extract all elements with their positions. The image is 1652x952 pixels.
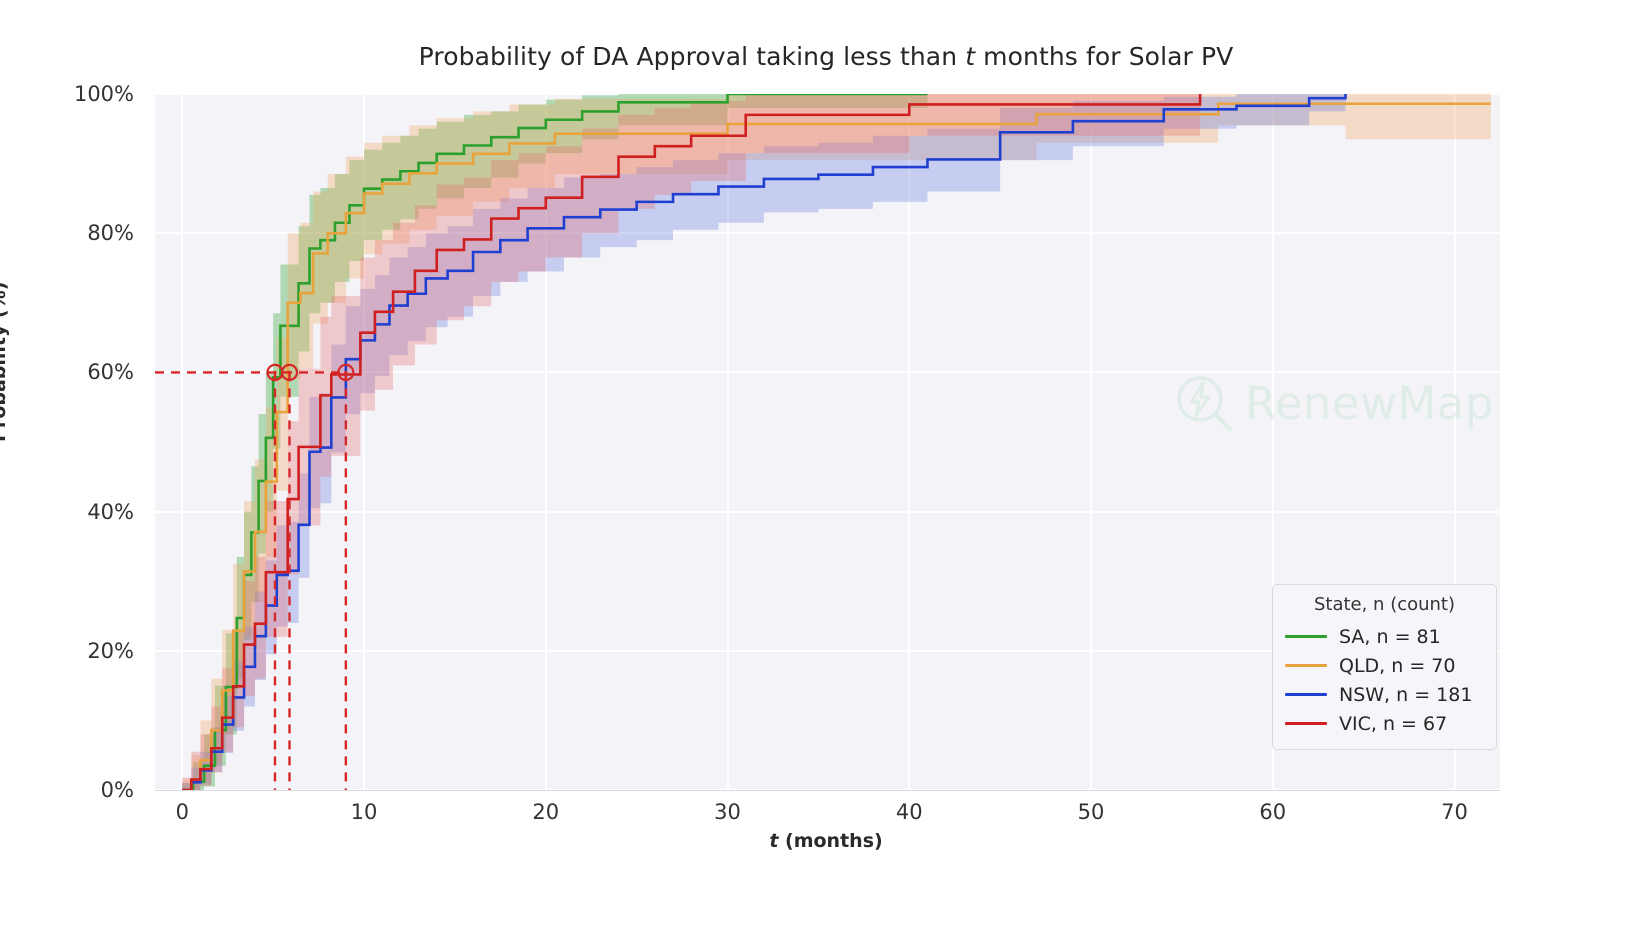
x-tick-label-60: 60 (1228, 800, 1318, 824)
y-tick-label-0pct: 0% (14, 778, 134, 802)
x-tick-label-0: 0 (137, 800, 227, 824)
title-part-1: Probability of DA Approval taking less t… (419, 42, 966, 71)
x-tick-label-20: 20 (501, 800, 591, 824)
legend-swatch-icon (1285, 635, 1327, 638)
legend-item-label: VIC, n = 67 (1339, 713, 1447, 735)
y-tick-label-20pct: 20% (14, 639, 134, 663)
x-axis-spine (155, 790, 1500, 791)
legend-item-label: NSW, n = 181 (1339, 684, 1472, 706)
legend-items: SA, n = 81QLD, n = 70NSW, n = 181VIC, n … (1285, 622, 1484, 738)
annotation-dot-1 (288, 371, 291, 374)
legend-title: State, n (count) (1285, 594, 1484, 615)
legend-item-nsw[interactable]: NSW, n = 181 (1285, 680, 1484, 709)
legend-swatch-icon (1285, 693, 1327, 696)
y-axis-label: Probability (%) (0, 282, 10, 442)
x-axis-label-rest: (months) (778, 830, 882, 852)
legend-item-qld[interactable]: QLD, n = 70 (1285, 651, 1484, 680)
x-tick-label-30: 30 (683, 800, 773, 824)
page-title: Probability of DA Approval taking less t… (0, 42, 1652, 71)
x-axis-label: t (months) (0, 830, 1652, 852)
annotation-dot-0 (273, 371, 276, 374)
legend-item-label: QLD, n = 70 (1339, 655, 1455, 677)
legend-swatch-icon (1285, 722, 1327, 725)
annotation-dot-2 (344, 371, 347, 374)
x-tick-label-70: 70 (1410, 800, 1500, 824)
x-tick-label-50: 50 (1046, 800, 1136, 824)
x-tick-label-10: 10 (319, 800, 409, 824)
y-tick-label-80pct: 80% (14, 221, 134, 245)
legend-item-label: SA, n = 81 (1339, 626, 1441, 648)
title-part-2: months for Solar PV (975, 42, 1233, 71)
y-tick-label-60pct: 60% (14, 360, 134, 384)
x-tick-label-40: 40 (864, 800, 954, 824)
chart-canvas: Probability of DA Approval taking less t… (0, 0, 1652, 952)
legend[interactable]: State, n (count) SA, n = 81QLD, n = 70NS… (1272, 584, 1497, 750)
legend-item-vic[interactable]: VIC, n = 67 (1285, 709, 1484, 738)
legend-item-sa[interactable]: SA, n = 81 (1285, 622, 1484, 651)
legend-swatch-icon (1285, 664, 1327, 667)
y-tick-label-100pct: 100% (14, 82, 134, 106)
title-italic-t: t (965, 42, 975, 71)
y-tick-label-40pct: 40% (14, 500, 134, 524)
